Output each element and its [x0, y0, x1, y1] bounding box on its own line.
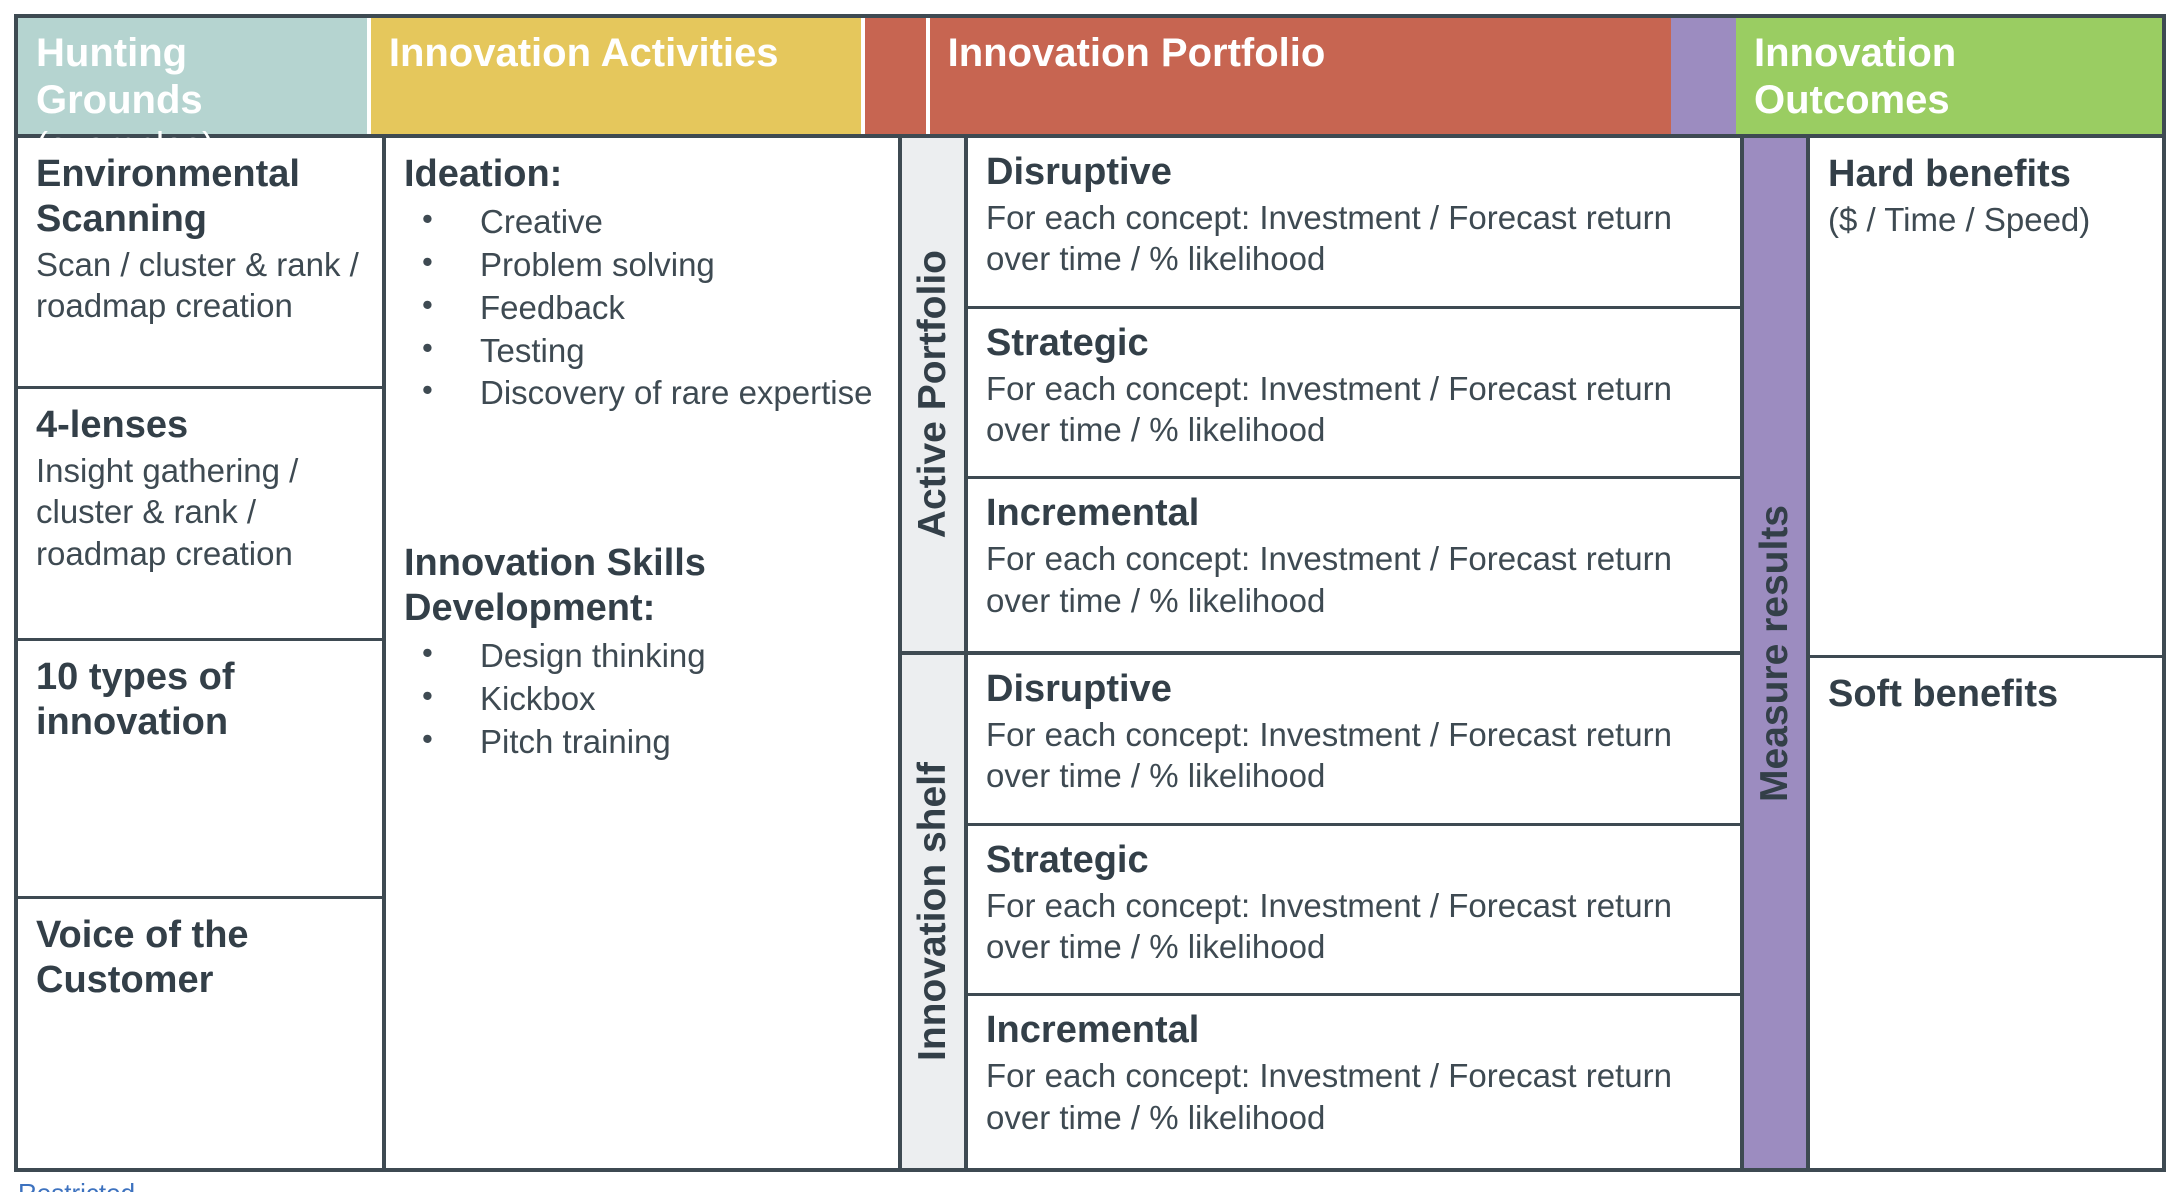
column-innovation-outcomes: Hard benefits ($ / Time / Speed) Soft be…	[1810, 134, 2162, 1168]
measure-results-label: Measure results	[1744, 138, 1806, 1168]
activity-list-item: Design thinking	[404, 635, 880, 678]
activity-group-title: Ideation:	[404, 152, 880, 197]
header-hunting-grounds-title: Hunting Grounds	[36, 31, 203, 122]
hunting-ground-title: 10 types of innovation	[36, 655, 364, 745]
body-row: Environmental Scanning Scan / cluster & …	[18, 134, 2162, 1168]
outcome-desc: ($ / Time / Speed)	[1828, 199, 2144, 241]
portfolio-cell-desc: For each concept: Investment / Forecast …	[986, 885, 1686, 968]
portfolio-cell: Incremental For each concept: Investment…	[968, 996, 1740, 1168]
portfolio-cell: Strategic For each concept: Investment /…	[968, 826, 1740, 997]
header-innovation-outcomes: Innovation Outcomes	[1736, 18, 2162, 134]
portfolio-section-label-shelf: Innovation shelf	[902, 651, 968, 1168]
activity-list-item: Discovery of rare expertise	[404, 372, 880, 415]
column-innovation-activities: Ideation: Creative Problem solving Feedb…	[386, 134, 902, 1168]
portfolio-section-label-text: Innovation shelf	[911, 762, 955, 1061]
portfolio-cell-title: Strategic	[986, 838, 1722, 883]
activity-list-item: Pitch training	[404, 721, 880, 764]
portfolio-cell-title: Incremental	[986, 491, 1722, 536]
innovation-framework-diagram: Hunting Grounds (examples) Innovation Ac…	[14, 14, 2166, 1172]
header-innovation-portfolio-title: Innovation Portfolio	[948, 31, 1326, 75]
header-innovation-portfolio: Innovation Portfolio	[930, 18, 1672, 134]
header-portfolio-gutter	[865, 18, 930, 134]
header-measure-gutter	[1671, 18, 1736, 134]
portfolio-cell-title: Disruptive	[986, 150, 1722, 195]
activity-list-item: Creative	[404, 201, 880, 244]
hunting-ground-item: Voice of the Customer	[18, 896, 382, 1168]
column-hunting-grounds: Environmental Scanning Scan / cluster & …	[18, 134, 386, 1168]
hunting-ground-title: 4-lenses	[36, 403, 364, 448]
portfolio-cell: Strategic For each concept: Investment /…	[968, 309, 1740, 480]
header-row: Hunting Grounds (examples) Innovation Ac…	[18, 18, 2162, 134]
hunting-ground-desc: Insight gathering / cluster & rank / roa…	[36, 450, 364, 575]
portfolio-cell: Incremental For each concept: Investment…	[968, 479, 1740, 651]
outcome-title: Soft benefits	[1828, 672, 2144, 717]
portfolio-section-shelf: Innovation shelf Disruptive For each con…	[902, 651, 1744, 1168]
header-innovation-activities: Innovation Activities	[371, 18, 865, 134]
portfolio-section-label-active: Active Portfolio	[902, 134, 968, 651]
column-measure-results: Measure results	[1744, 134, 1810, 1168]
column-innovation-portfolio: Active Portfolio Disruptive For each con…	[902, 134, 1744, 1168]
measure-results-label-text: Measure results	[1753, 505, 1797, 802]
outcome-item: Soft benefits	[1810, 655, 2162, 1168]
portfolio-section-active: Active Portfolio Disruptive For each con…	[902, 134, 1744, 651]
activity-list-item: Testing	[404, 330, 880, 373]
activity-group-title: Innovation Skills Development:	[404, 541, 880, 631]
portfolio-cell: Disruptive For each concept: Investment …	[968, 138, 1740, 309]
portfolio-cell-desc: For each concept: Investment / Forecast …	[986, 197, 1686, 280]
header-innovation-outcomes-title: Innovation Outcomes	[1754, 31, 1956, 122]
activity-group-ideation: Ideation: Creative Problem solving Feedb…	[386, 138, 898, 415]
activity-list-item: Kickbox	[404, 678, 880, 721]
outcome-title: Hard benefits	[1828, 152, 2144, 197]
header-hunting-grounds: Hunting Grounds (examples)	[18, 18, 371, 134]
hunting-ground-item: 10 types of innovation	[18, 638, 382, 896]
portfolio-cell-desc: For each concept: Investment / Forecast …	[986, 714, 1686, 797]
activity-group-skills-development: Innovation Skills Development: Design th…	[386, 527, 898, 763]
portfolio-cell-desc: For each concept: Investment / Forecast …	[986, 1055, 1686, 1138]
header-innovation-activities-title: Innovation Activities	[389, 31, 779, 75]
portfolio-cell-title: Strategic	[986, 321, 1722, 366]
portfolio-section-label-text: Active Portfolio	[911, 250, 955, 538]
outcome-item: Hard benefits ($ / Time / Speed)	[1810, 138, 2162, 655]
portfolio-cell-desc: For each concept: Investment / Forecast …	[986, 538, 1686, 621]
footer-classification-note: Restricted	[18, 1178, 135, 1192]
portfolio-cell: Disruptive For each concept: Investment …	[968, 655, 1740, 826]
portfolio-cells-shelf: Disruptive For each concept: Investment …	[968, 651, 1744, 1168]
portfolio-cell-title: Incremental	[986, 1008, 1722, 1053]
activity-list: Creative Problem solving Feedback Testin…	[404, 201, 880, 415]
hunting-ground-title: Voice of the Customer	[36, 913, 364, 1003]
portfolio-cell-title: Disruptive	[986, 667, 1722, 712]
activity-list: Design thinking Kickbox Pitch training	[404, 635, 880, 764]
activity-list-item: Problem solving	[404, 244, 880, 287]
hunting-ground-item: Environmental Scanning Scan / cluster & …	[18, 138, 382, 386]
portfolio-cells-active: Disruptive For each concept: Investment …	[968, 134, 1744, 651]
portfolio-cell-desc: For each concept: Investment / Forecast …	[986, 368, 1686, 451]
hunting-ground-desc: Scan / cluster & rank / roadmap creation	[36, 244, 364, 327]
activity-list-item: Feedback	[404, 287, 880, 330]
hunting-ground-title: Environmental Scanning	[36, 152, 364, 242]
hunting-ground-item: 4-lenses Insight gathering / cluster & r…	[18, 386, 382, 638]
